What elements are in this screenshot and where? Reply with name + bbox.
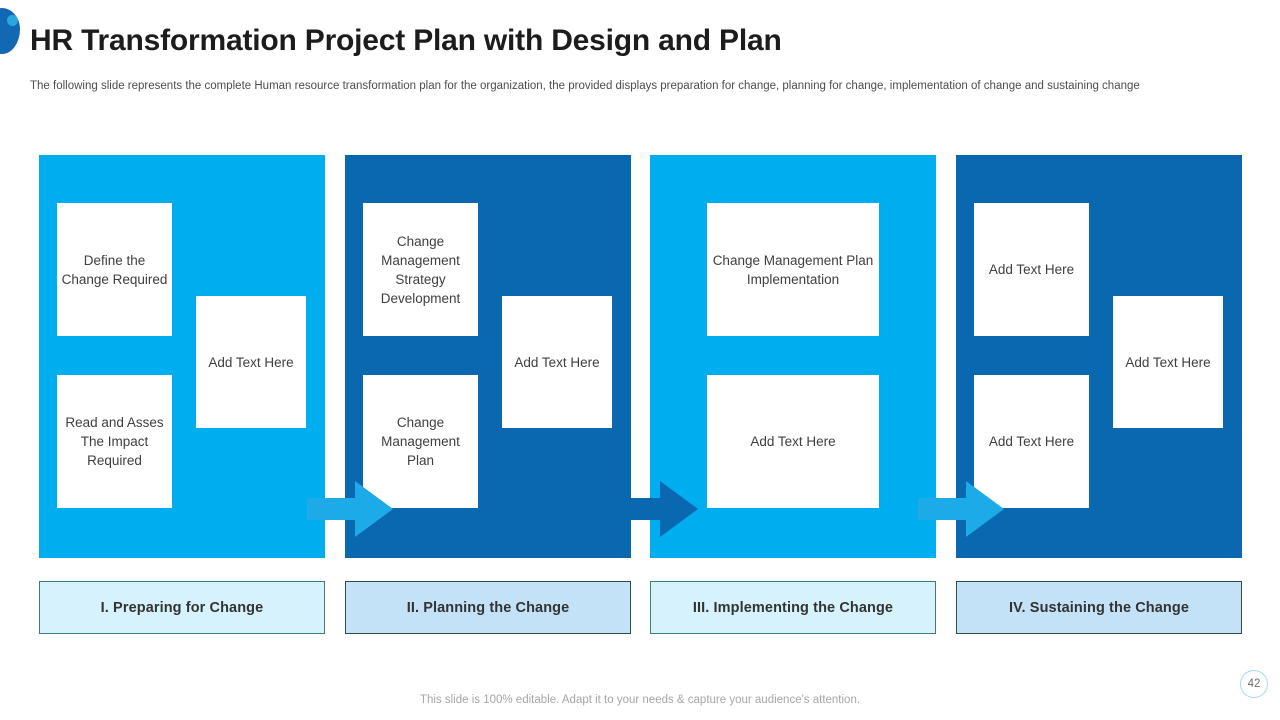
- stage-1-card-bottom[interactable]: Read and Asses The Impact Required: [57, 375, 172, 508]
- arrow-right-icon-3: [918, 479, 1004, 539]
- stage-label-4[interactable]: IV. Sustaining the Change: [956, 581, 1242, 634]
- stage-3-card-bottom[interactable]: Add Text Here: [707, 375, 879, 508]
- page-number-badge: 42: [1240, 670, 1268, 698]
- footer-note: This slide is 100% editable. Adapt it to…: [0, 694, 1280, 706]
- stage-3-card-top[interactable]: Change Management Plan Implementation: [707, 203, 879, 336]
- process-diagram: Define the Change Required Read and Asse…: [0, 150, 1280, 562]
- page-subtitle: The following slide represents the compl…: [30, 78, 1202, 94]
- stage-1-card-right[interactable]: Add Text Here: [196, 296, 306, 428]
- stage-label-3[interactable]: III. Implementing the Change: [650, 581, 936, 634]
- blue-circle-logo-icon: [0, 8, 20, 54]
- stage-2-card-top[interactable]: Change Management Strategy Development: [363, 203, 478, 336]
- slide-canvas: HR Transformation Project Plan with Desi…: [0, 0, 1280, 720]
- arrow-right-icon-1: [307, 479, 393, 539]
- page-title: HR Transformation Project Plan with Desi…: [30, 24, 782, 58]
- stage-1-card-top[interactable]: Define the Change Required: [57, 203, 172, 336]
- stage-panel-1[interactable]: Define the Change Required Read and Asse…: [39, 155, 325, 558]
- stage-4-card-top[interactable]: Add Text Here: [974, 203, 1089, 336]
- stage-4-card-right[interactable]: Add Text Here: [1113, 296, 1223, 428]
- stage-2-card-right[interactable]: Add Text Here: [502, 296, 612, 428]
- arrow-right-icon-2: [612, 479, 698, 539]
- stage-label-2[interactable]: II. Planning the Change: [345, 581, 631, 634]
- stage-label-1[interactable]: I. Preparing for Change: [39, 581, 325, 634]
